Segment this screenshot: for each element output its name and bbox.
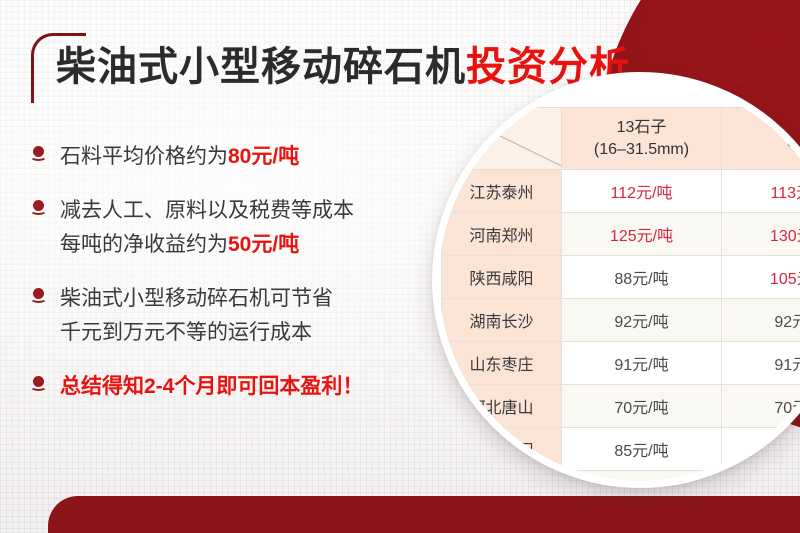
bullet-text: 总结得知2-4个月即可回本盈利！ bbox=[60, 370, 363, 404]
table-row-region bbox=[442, 471, 562, 482]
table-cell-price-2: 113元/吨 bbox=[722, 170, 800, 213]
table-cell-price-1: 91元/吨 bbox=[562, 342, 722, 385]
bullet-marker-icon bbox=[30, 199, 48, 221]
bullet-emphasis-value: 50元/吨 bbox=[228, 233, 299, 256]
table-cell-price-2: 105元/吨 bbox=[722, 256, 800, 299]
bullet-item-operating-cost: 柴油式小型移动碎石机可节省千元到万元不等的运行成本 bbox=[30, 282, 430, 350]
table-row: 山东枣庄91元/吨91元/吨 bbox=[442, 342, 800, 385]
table-corner-cell bbox=[442, 108, 562, 170]
diagonal-divider-icon bbox=[442, 108, 561, 169]
table-cell-price-1: 112元/吨 bbox=[562, 170, 722, 213]
table-col-header-2: (10– bbox=[722, 108, 800, 170]
bullet-text: 石料平均价格约为80元/吨 bbox=[60, 140, 299, 174]
bullet-text: 柴油式小型移动碎石机可节省千元到万元不等的运行成本 bbox=[60, 282, 333, 350]
bullet-item-net-income: 减去人工、原料以及税费等成本每吨的净收益约为50元/吨 bbox=[30, 194, 430, 262]
table-row: 江苏泰州112元/吨113元/吨 bbox=[442, 170, 800, 213]
table-cell-price-1: 125元/吨 bbox=[562, 213, 722, 256]
bullet-item-avg-price: 石料平均价格约为80元/吨 bbox=[30, 140, 430, 174]
table-body: 江苏泰州112元/吨113元/吨河南郑州125元/吨130元/吨陕西咸阳88元/… bbox=[442, 170, 800, 482]
table-row-region: 河北唐山 bbox=[442, 385, 562, 428]
table-cell-price-1: 70元/吨 bbox=[562, 385, 722, 428]
table-row: 福建厦门85元/吨85元/吨 bbox=[442, 428, 800, 471]
table-cell-price-1: 92元/吨 bbox=[562, 299, 722, 342]
table-cell-price-2: 70元/吨 bbox=[722, 385, 800, 428]
bullet-line-text: 柴油式小型移动碎石机可节省 bbox=[60, 287, 333, 310]
bottom-red-band bbox=[48, 496, 800, 533]
table-row-region: 江苏泰州 bbox=[442, 170, 562, 213]
table-row: 湖南长沙92元/吨92元/吨 bbox=[442, 299, 800, 342]
table-cell-price-1: —— bbox=[562, 471, 722, 482]
table-cell-price-2: 130元/吨 bbox=[722, 213, 800, 256]
col2-spec: (10– bbox=[785, 130, 800, 147]
bullet-emphasis-value: 80元/吨 bbox=[228, 145, 299, 168]
page-title: 柴油式小型移动碎石机投资分析 bbox=[56, 42, 630, 92]
table-row: 河北唐山70元/吨70元/吨 bbox=[442, 385, 800, 428]
table-row-region: 陕西咸阳 bbox=[442, 256, 562, 299]
bullet-line-text: 减去人工、原料以及税费等成本 bbox=[60, 199, 354, 222]
magnifier-content: 13石子 (16–31.5mm) (10– 江苏泰州112元/吨113元/吨河南… bbox=[439, 79, 800, 481]
table-col-header-1: 13石子 (16–31.5mm) bbox=[562, 108, 722, 170]
bullet-line-text: 石料平均价格约为 bbox=[60, 145, 228, 168]
table-header-row: 13石子 (16–31.5mm) (10– bbox=[442, 108, 800, 170]
bullet-line: 千元到万元不等的运行成本 bbox=[60, 316, 333, 350]
bullet-marker-icon bbox=[30, 287, 48, 309]
table-row-region: 河南郑州 bbox=[442, 213, 562, 256]
bullet-line: 石料平均价格约为80元/吨 bbox=[60, 140, 299, 174]
bullet-line-text: 每吨的净收益约为 bbox=[60, 233, 228, 256]
bullet-item-conclusion: 总结得知2-4个月即可回本盈利！ bbox=[30, 370, 430, 404]
bullet-list: 石料平均价格约为80元/吨减去人工、原料以及税费等成本每吨的净收益约为50元/吨… bbox=[30, 140, 430, 420]
page-title-main: 柴油式小型移动碎石机 bbox=[56, 45, 466, 89]
col1-spec: (16–31.5mm) bbox=[594, 141, 689, 158]
stone-price-table: 13石子 (16–31.5mm) (10– 江苏泰州112元/吨113元/吨河南… bbox=[441, 107, 800, 481]
bullet-text: 减去人工、原料以及税费等成本每吨的净收益约为50元/吨 bbox=[60, 194, 354, 262]
bullet-line-text: 总结得知2-4个月即可回本盈利！ bbox=[60, 375, 363, 398]
table-cell-price-2: 91元/吨 bbox=[722, 342, 800, 385]
bullet-line: 减去人工、原料以及税费等成本 bbox=[60, 194, 354, 228]
table-cell-price-1: 88元/吨 bbox=[562, 256, 722, 299]
bullet-line: 每吨的净收益约为50元/吨 bbox=[60, 228, 354, 262]
table-row-region: 福建厦门 bbox=[442, 428, 562, 471]
bullet-line-text: 千元到万元不等的运行成本 bbox=[60, 321, 312, 344]
table-cell-price-2: 85元/吨 bbox=[722, 428, 800, 471]
table-cell-price-2: 92元/吨 bbox=[722, 299, 800, 342]
bullet-line: 柴油式小型移动碎石机可节省 bbox=[60, 282, 333, 316]
table-row-region: 湖南长沙 bbox=[442, 299, 562, 342]
bullet-marker-icon bbox=[30, 375, 48, 397]
table-cell-price-2 bbox=[722, 471, 800, 482]
table-row-region: 山东枣庄 bbox=[442, 342, 562, 385]
bullet-line: 总结得知2-4个月即可回本盈利！ bbox=[60, 370, 363, 404]
col1-name: 13石子 bbox=[617, 119, 667, 136]
table-row: 陕西咸阳88元/吨105元/吨 bbox=[442, 256, 800, 299]
bullet-marker-icon bbox=[30, 145, 48, 167]
magnifier-circle: 13石子 (16–31.5mm) (10– 江苏泰州112元/吨113元/吨河南… bbox=[432, 72, 800, 488]
table-row: 河南郑州125元/吨130元/吨 bbox=[442, 213, 800, 256]
table-cell-price-1: 85元/吨 bbox=[562, 428, 722, 471]
table-row: —— bbox=[442, 471, 800, 482]
